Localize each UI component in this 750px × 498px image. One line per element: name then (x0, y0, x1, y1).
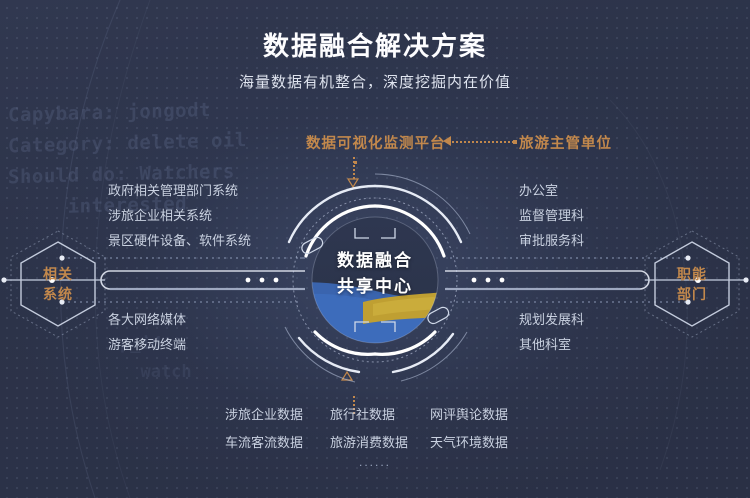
list-item: 规划发展科 (519, 307, 584, 332)
list-item: 政府相关管理部门系统 (108, 178, 251, 203)
arrow-left-triangle-icon (443, 136, 451, 146)
list-item: 景区硬件设备、软件系统 (108, 228, 251, 253)
connector-square-dot (513, 140, 517, 144)
bottom-data-grid: 涉旅企业数据 旅行社数据 网评舆论数据 车流客流数据 旅游消费数据 天气环境数据 (225, 404, 525, 451)
core-label: 数据融合 共享中心 (255, 248, 495, 300)
list-item: 办公室 (519, 178, 584, 203)
left-top-list: 政府相关管理部门系统 涉旅企业相关系统 景区硬件设备、软件系统 (108, 178, 251, 253)
bottom-ellipsis: ...... (0, 455, 750, 469)
list-item: 监督管理科 (519, 203, 584, 228)
list-item: 网评舆论数据 (430, 404, 525, 423)
left-bottom-list: 各大网络媒体 游客移动终端 (108, 307, 186, 357)
list-item: 旅游消费数据 (330, 432, 430, 451)
list-item: 天气环境数据 (430, 432, 525, 451)
list-item: 涉旅企业相关系统 (108, 203, 251, 228)
hexagon-right-label: 职能 部门 (640, 228, 744, 340)
dotted-connector-horizontal (452, 141, 514, 143)
list-item: 审批服务科 (519, 228, 584, 253)
list-item: 其他科室 (519, 332, 584, 357)
hexagon-left-line2: 系统 (43, 284, 73, 304)
hexagon-right-line2: 部门 (677, 284, 707, 304)
hexagon-related-systems[interactable]: 相关 系统 (6, 228, 110, 340)
list-item: 游客移动终端 (108, 332, 186, 357)
core-label-line1: 数据融合 (255, 248, 495, 274)
page-title: 数据融合解决方案 (0, 26, 750, 63)
right-top-list: 办公室 监督管理科 审批服务科 (519, 178, 584, 253)
label-visualization-platform: 数据可视化监测平台 (306, 132, 446, 153)
core-data-hub[interactable]: 数据融合 共享中心 (255, 152, 495, 392)
hexagon-left-line1: 相关 (43, 264, 73, 284)
hexagon-right-line1: 职能 (677, 264, 707, 284)
list-item: 涉旅企业数据 (225, 404, 330, 423)
top-label-row: 数据可视化监测平台 旅游主管单位 (0, 132, 750, 154)
page-subtitle: 海量数据有机整合，深度挖掘内在价值 (0, 71, 750, 92)
core-label-line2: 共享中心 (255, 274, 495, 300)
right-bottom-list: 规划发展科 其他科室 (519, 307, 584, 357)
infographic-canvas: Capybara: jongodt Category: delete oil S… (0, 0, 750, 498)
hexagon-functional-departments[interactable]: 职能 部门 (640, 228, 744, 340)
label-tourism-authority: 旅游主管单位 (519, 132, 612, 153)
list-item: 车流客流数据 (225, 432, 330, 451)
list-item: 旅行社数据 (330, 404, 430, 423)
list-item: 各大网络媒体 (108, 307, 186, 332)
hexagon-left-label: 相关 系统 (6, 228, 110, 340)
